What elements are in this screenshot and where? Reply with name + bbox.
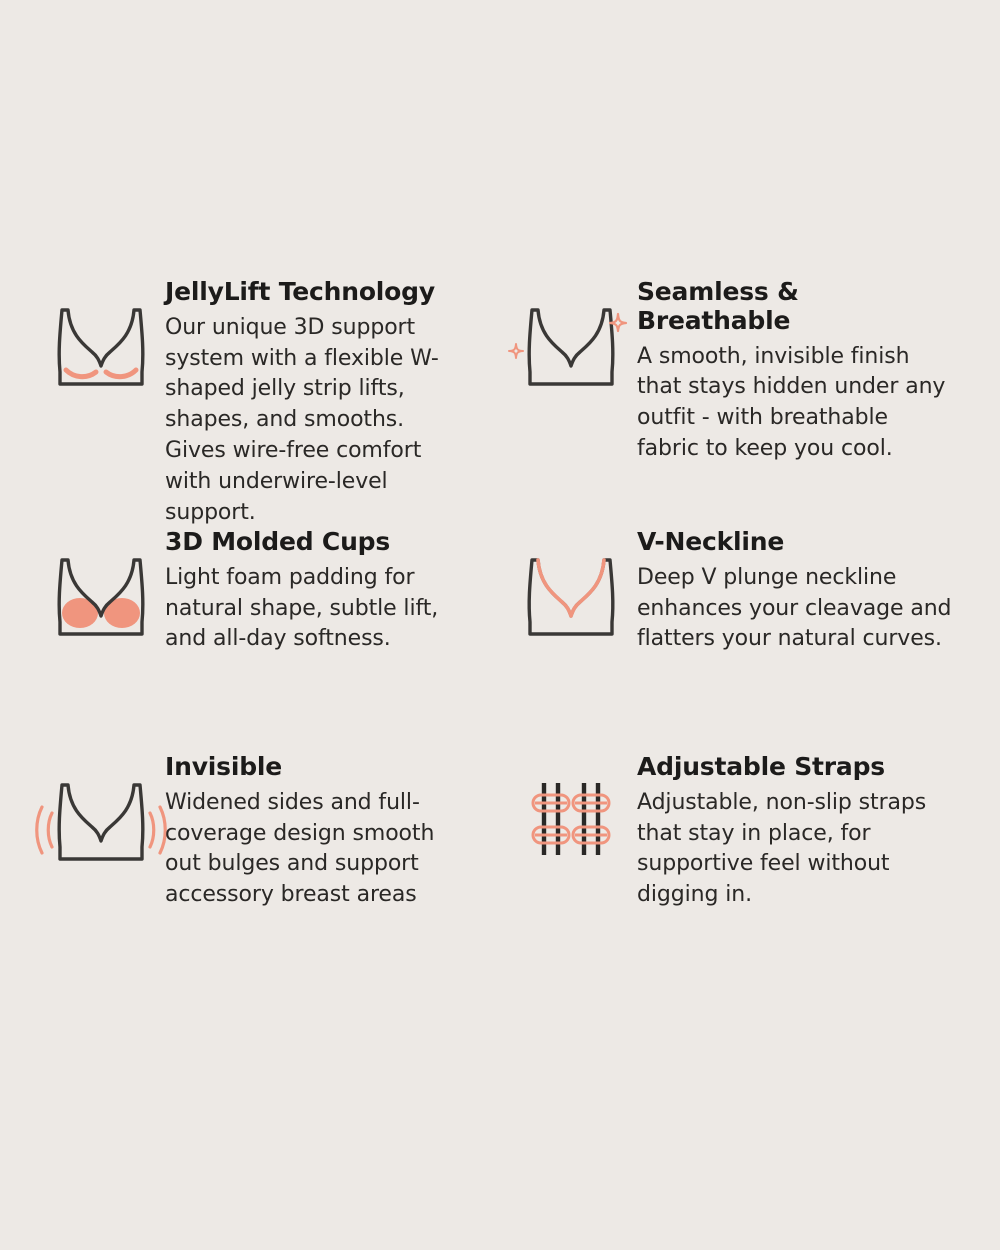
feature-title: Adjustable Straps xyxy=(637,753,952,782)
adjustable-straps-icon xyxy=(518,775,623,880)
feature-list-page: JellyLift Technology Our unique 3D suppo… xyxy=(0,0,1000,1250)
feature-body: V-Neckline Deep V plunge neckline enhanc… xyxy=(637,528,1000,655)
feature-card-invisible: Invisible Widened sides and full-coverag… xyxy=(0,753,500,953)
feature-description: Deep V plunge neckline enhances your cle… xyxy=(637,563,952,655)
feature-card-v-neckline: V-Neckline Deep V plunge neckline enhanc… xyxy=(500,528,1000,753)
features-grid: JellyLift Technology Our unique 3D suppo… xyxy=(0,278,1000,953)
bra-jelly-strip-icon xyxy=(48,300,153,405)
feature-title: Seamless & Breathable xyxy=(637,278,952,336)
bra-v-neckline-icon xyxy=(518,550,623,655)
bra-invisible-waves-icon xyxy=(48,775,153,880)
feature-body: 3D Molded Cups Light foam padding for na… xyxy=(165,528,500,655)
feature-description: Adjustable, non-slip straps that stay in… xyxy=(637,788,952,911)
feature-body: JellyLift Technology Our unique 3D suppo… xyxy=(165,278,500,528)
feature-card-3d-molded-cups: 3D Molded Cups Light foam padding for na… xyxy=(0,528,500,753)
feature-card-jellylift-technology: JellyLift Technology Our unique 3D suppo… xyxy=(0,278,500,528)
feature-body: Adjustable Straps Adjustable, non-slip s… xyxy=(637,753,1000,911)
feature-title: V-Neckline xyxy=(637,528,952,557)
feature-description: Widened sides and full-coverage design s… xyxy=(165,788,452,911)
feature-description: Our unique 3D support system with a flex… xyxy=(165,313,452,529)
feature-card-adjustable-straps: Adjustable Straps Adjustable, non-slip s… xyxy=(500,753,1000,953)
feature-card-seamless-breathable: Seamless & Breathable A smooth, invisibl… xyxy=(500,278,1000,528)
feature-body: Seamless & Breathable A smooth, invisibl… xyxy=(637,278,1000,465)
bra-molded-cups-icon xyxy=(48,550,153,655)
feature-description: A smooth, invisible finish that stays hi… xyxy=(637,342,952,465)
feature-title: Invisible xyxy=(165,753,452,782)
feature-description: Light foam padding for natural shape, su… xyxy=(165,563,452,655)
bra-sparkles-icon xyxy=(518,300,623,405)
feature-title: 3D Molded Cups xyxy=(165,528,452,557)
feature-title: JellyLift Technology xyxy=(165,278,452,307)
feature-body: Invisible Widened sides and full-coverag… xyxy=(165,753,500,911)
